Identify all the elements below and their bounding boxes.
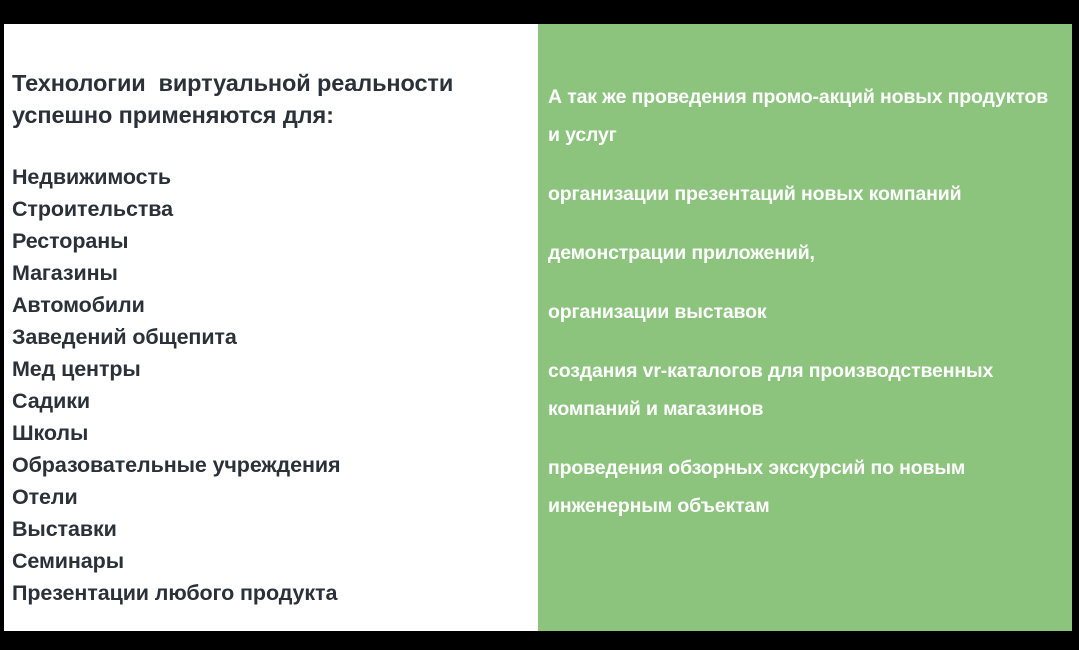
left-panel: Технологии виртуальной реальности успешн… <box>4 24 538 631</box>
green-paragraph: проведения обзорных экскурсий по новым и… <box>548 449 1064 525</box>
green-paragraph: демонстрации приложений, <box>548 234 1064 272</box>
list-item: Автомобили <box>12 289 538 321</box>
letterbox-top-bar <box>0 0 1079 24</box>
list-item: Магазины <box>12 257 538 289</box>
green-paragraph: создания vr-каталогов для производственн… <box>548 352 1064 428</box>
list-item: Презентации любого продукта <box>12 577 538 609</box>
letterbox-left-bar <box>0 0 4 650</box>
list-item: Образовательные учреждения <box>12 449 538 481</box>
application-areas-list: Недвижимость Строительства Рестораны Маг… <box>12 161 538 609</box>
list-item: Строительства <box>12 193 538 225</box>
letterbox-bottom-bar <box>0 631 1079 650</box>
list-item: Садики <box>12 385 538 417</box>
list-item: Семинары <box>12 545 538 577</box>
list-item: Выставки <box>12 513 538 545</box>
list-item: Недвижимость <box>12 161 538 193</box>
slide-canvas: Технологии виртуальной реальности успешн… <box>0 0 1079 650</box>
list-item: Отели <box>12 481 538 513</box>
left-panel-heading: Технологии виртуальной реальности успешн… <box>12 67 538 131</box>
green-paragraph: организации выставок <box>548 293 1064 331</box>
list-item: Рестораны <box>12 225 538 257</box>
letterbox-right-bar <box>1072 0 1079 650</box>
list-item: Школы <box>12 417 538 449</box>
list-item: Мед центры <box>12 353 538 385</box>
slide-content-area: Технологии виртуальной реальности успешн… <box>4 24 1072 631</box>
green-paragraph: организации презентаций новых компаний <box>548 175 1064 213</box>
green-paragraph: А так же проведения промо-акций новых пр… <box>548 78 1064 154</box>
right-panel: А так же проведения промо-акций новых пр… <box>538 24 1072 631</box>
list-item: Заведений общепита <box>12 321 538 353</box>
